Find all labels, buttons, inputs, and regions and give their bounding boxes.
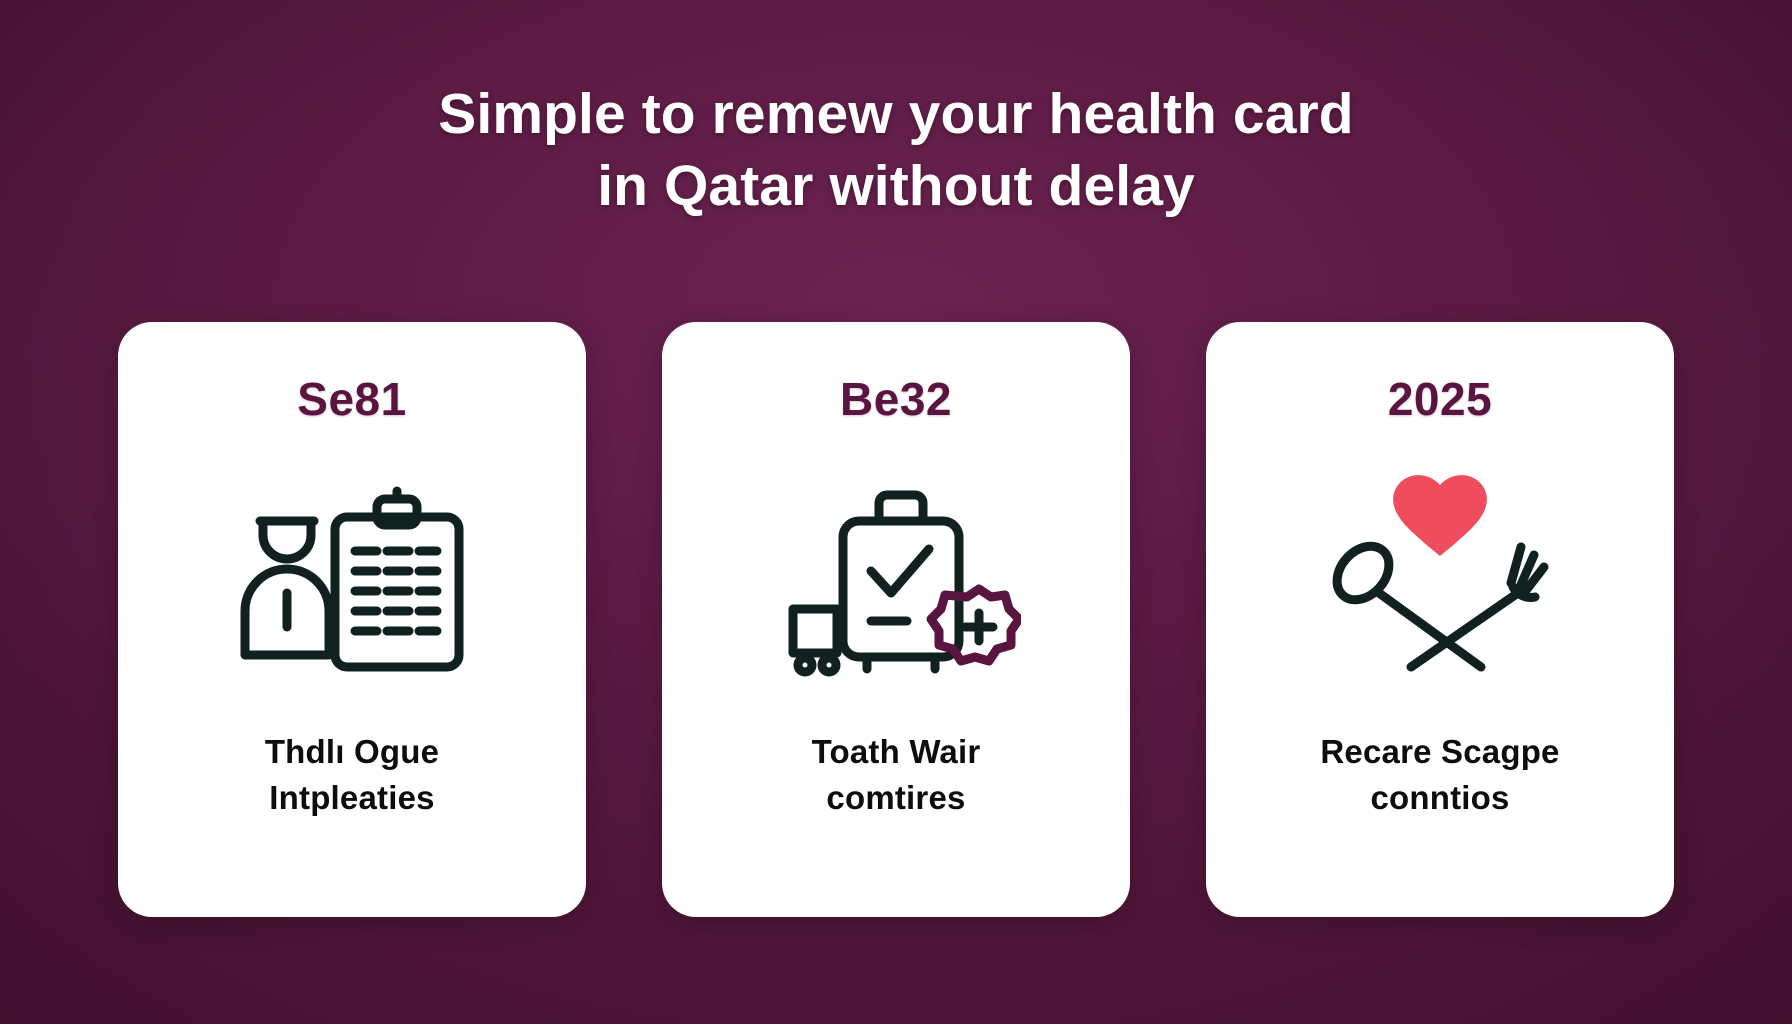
card-2-caption-line-2: comtires bbox=[812, 775, 981, 821]
headline-line-2: in Qatar without delay bbox=[0, 150, 1792, 222]
person-clipboard-form-icon bbox=[222, 464, 482, 689]
headline: Simple to remew your health card in Qata… bbox=[0, 78, 1792, 222]
poster-canvas: Simple to remew your health card in Qata… bbox=[0, 0, 1792, 1024]
card-3-caption: Recare Scagpe conntios bbox=[1320, 729, 1559, 821]
card-2-heading: Be32 bbox=[840, 376, 952, 422]
card-1-caption: Thdlı Ogue Intpleaties bbox=[265, 729, 439, 821]
card-3: 2025 Recare Scagpe con bbox=[1206, 322, 1674, 917]
card-2-caption-line-1: Toath Wair bbox=[812, 729, 981, 775]
card-3-caption-line-1: Recare Scagpe bbox=[1320, 729, 1559, 775]
card-2: Be32 bbox=[662, 322, 1130, 917]
headline-line-1: Simple to remew your health card bbox=[0, 78, 1792, 150]
card-row: Se81 bbox=[0, 322, 1792, 917]
heart-shape bbox=[1393, 475, 1487, 556]
card-2-caption: Toath Wair comtires bbox=[812, 729, 981, 821]
card-3-caption-line-2: conntios bbox=[1320, 775, 1559, 821]
card-1: Se81 bbox=[118, 322, 586, 917]
card-1-heading: Se81 bbox=[297, 376, 406, 422]
crossed-spoon-fork-heart-icon bbox=[1310, 464, 1570, 689]
card-1-caption-line-2: Intpleaties bbox=[265, 775, 439, 821]
card-1-caption-line-1: Thdlı Ogue bbox=[265, 729, 439, 775]
suitcase-check-medical-badge-icon bbox=[766, 464, 1026, 689]
card-3-heading: 2025 bbox=[1388, 376, 1492, 422]
